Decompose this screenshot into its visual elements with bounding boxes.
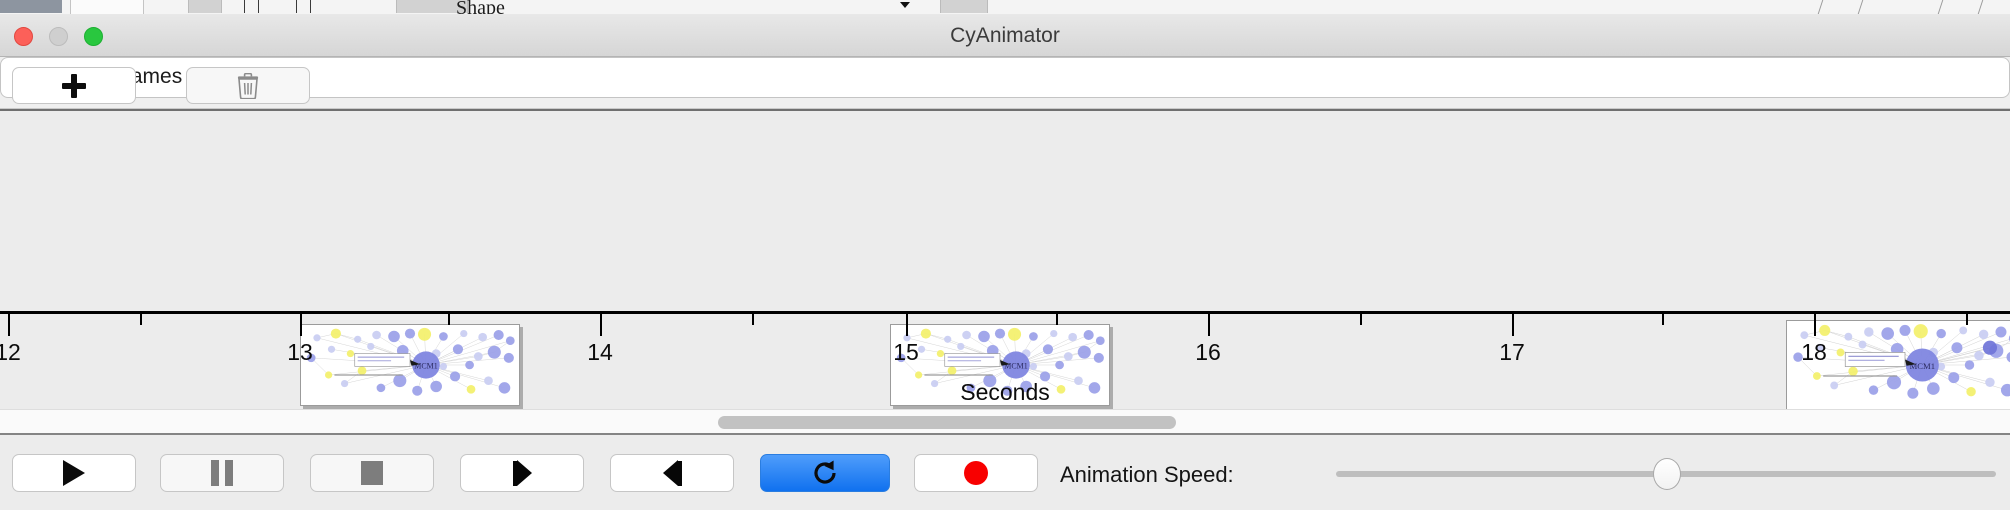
svg-text:MCM1: MCM1 — [414, 362, 438, 371]
stop-icon — [361, 461, 383, 485]
loop-icon — [811, 459, 839, 487]
timeline-tick-label: 14 — [587, 339, 613, 366]
bg-slash-2 — [1858, 0, 1864, 14]
timeline-tick-label: 12 — [0, 339, 21, 366]
timeline-tick-label: 15 — [893, 339, 919, 366]
record-icon — [964, 461, 988, 485]
playback-bar: Animation Speed: — [0, 437, 2010, 510]
delete-frame-button[interactable] — [186, 67, 310, 104]
skip-back-icon — [513, 460, 532, 486]
keyframe-thumbnail[interactable]: MCM1 — [300, 324, 520, 406]
timeline-tick-major — [300, 314, 302, 336]
window-title: CyAnimator — [0, 14, 2010, 57]
svg-text:MCM1: MCM1 — [1910, 361, 1935, 371]
timeline-tick-minor — [140, 314, 142, 325]
timeline-tick-minor — [1056, 314, 1058, 325]
svg-text:MCM1: MCM1 — [1004, 362, 1028, 371]
animation-speed-slider[interactable] — [1336, 454, 1996, 492]
timeline-tick-minor — [1662, 314, 1664, 325]
bg-slash-4 — [1978, 0, 1984, 14]
pause-button[interactable] — [160, 454, 284, 492]
bg-slash-3 — [1938, 0, 1944, 14]
bg-window-label: Shape — [456, 0, 505, 15]
slider-thumb[interactable] — [1653, 458, 1681, 490]
scrollbar-thumb[interactable] — [718, 416, 1176, 429]
timeline-tick-major — [8, 314, 10, 336]
timeline-tick-label: 18 — [1801, 339, 1827, 366]
background-window-strip: Shape — [0, 0, 2010, 15]
timeline-tick-major — [600, 314, 602, 336]
timeline-tick-major — [1814, 314, 1816, 336]
bg-slash-1 — [1818, 0, 1824, 14]
timeline-tick-label: 13 — [287, 339, 313, 366]
loop-button[interactable] — [760, 454, 890, 492]
bg-tab-1 — [70, 0, 144, 15]
play-button[interactable] — [12, 454, 136, 492]
title-bar: CyAnimator — [0, 14, 2010, 57]
bg-tick-3 — [296, 0, 297, 13]
next-frame-button[interactable] — [610, 454, 734, 492]
cyanimator-window: Shape CyAnimator Clear All Fr — [0, 0, 2010, 510]
add-frame-button[interactable] — [12, 67, 136, 104]
bg-chip-dark — [0, 0, 62, 13]
previous-frame-button[interactable] — [460, 454, 584, 492]
animation-speed-label: Animation Speed: — [1060, 462, 1234, 488]
timeline-scrollbar[interactable] — [0, 409, 2010, 435]
timeline-panel[interactable]: MCM1 MCM1 MCM1 12131415161718 Seconds — [0, 109, 2010, 409]
stop-button[interactable] — [310, 454, 434, 492]
record-button[interactable] — [914, 454, 1038, 492]
timeline-tick-major — [906, 314, 908, 336]
play-icon — [63, 460, 85, 486]
bg-tick-2 — [258, 0, 259, 13]
bg-tick-1 — [244, 0, 245, 13]
bg-chip-grey-1 — [188, 0, 222, 13]
bg-chip-grey-3 — [940, 0, 988, 13]
timeline-tick-major — [1208, 314, 1210, 336]
pause-icon — [211, 460, 233, 486]
timeline-tick-label: 17 — [1499, 339, 1525, 366]
timeline-tick-label: 16 — [1195, 339, 1221, 366]
skip-forward-icon — [663, 460, 682, 486]
bg-tick-4 — [310, 0, 311, 13]
bg-caret-icon — [900, 2, 910, 8]
timeline-tick-minor — [752, 314, 754, 325]
axis-title: Seconds — [960, 379, 1050, 406]
plus-icon — [62, 74, 86, 98]
trash-icon — [237, 73, 259, 99]
timeline-tick-minor — [1966, 314, 1968, 325]
timeline-tick-minor — [1360, 314, 1362, 325]
timeline-tick-major — [1512, 314, 1514, 336]
toolbar: Clear All Frames — [0, 57, 2010, 109]
timeline-tick-minor — [448, 314, 450, 325]
